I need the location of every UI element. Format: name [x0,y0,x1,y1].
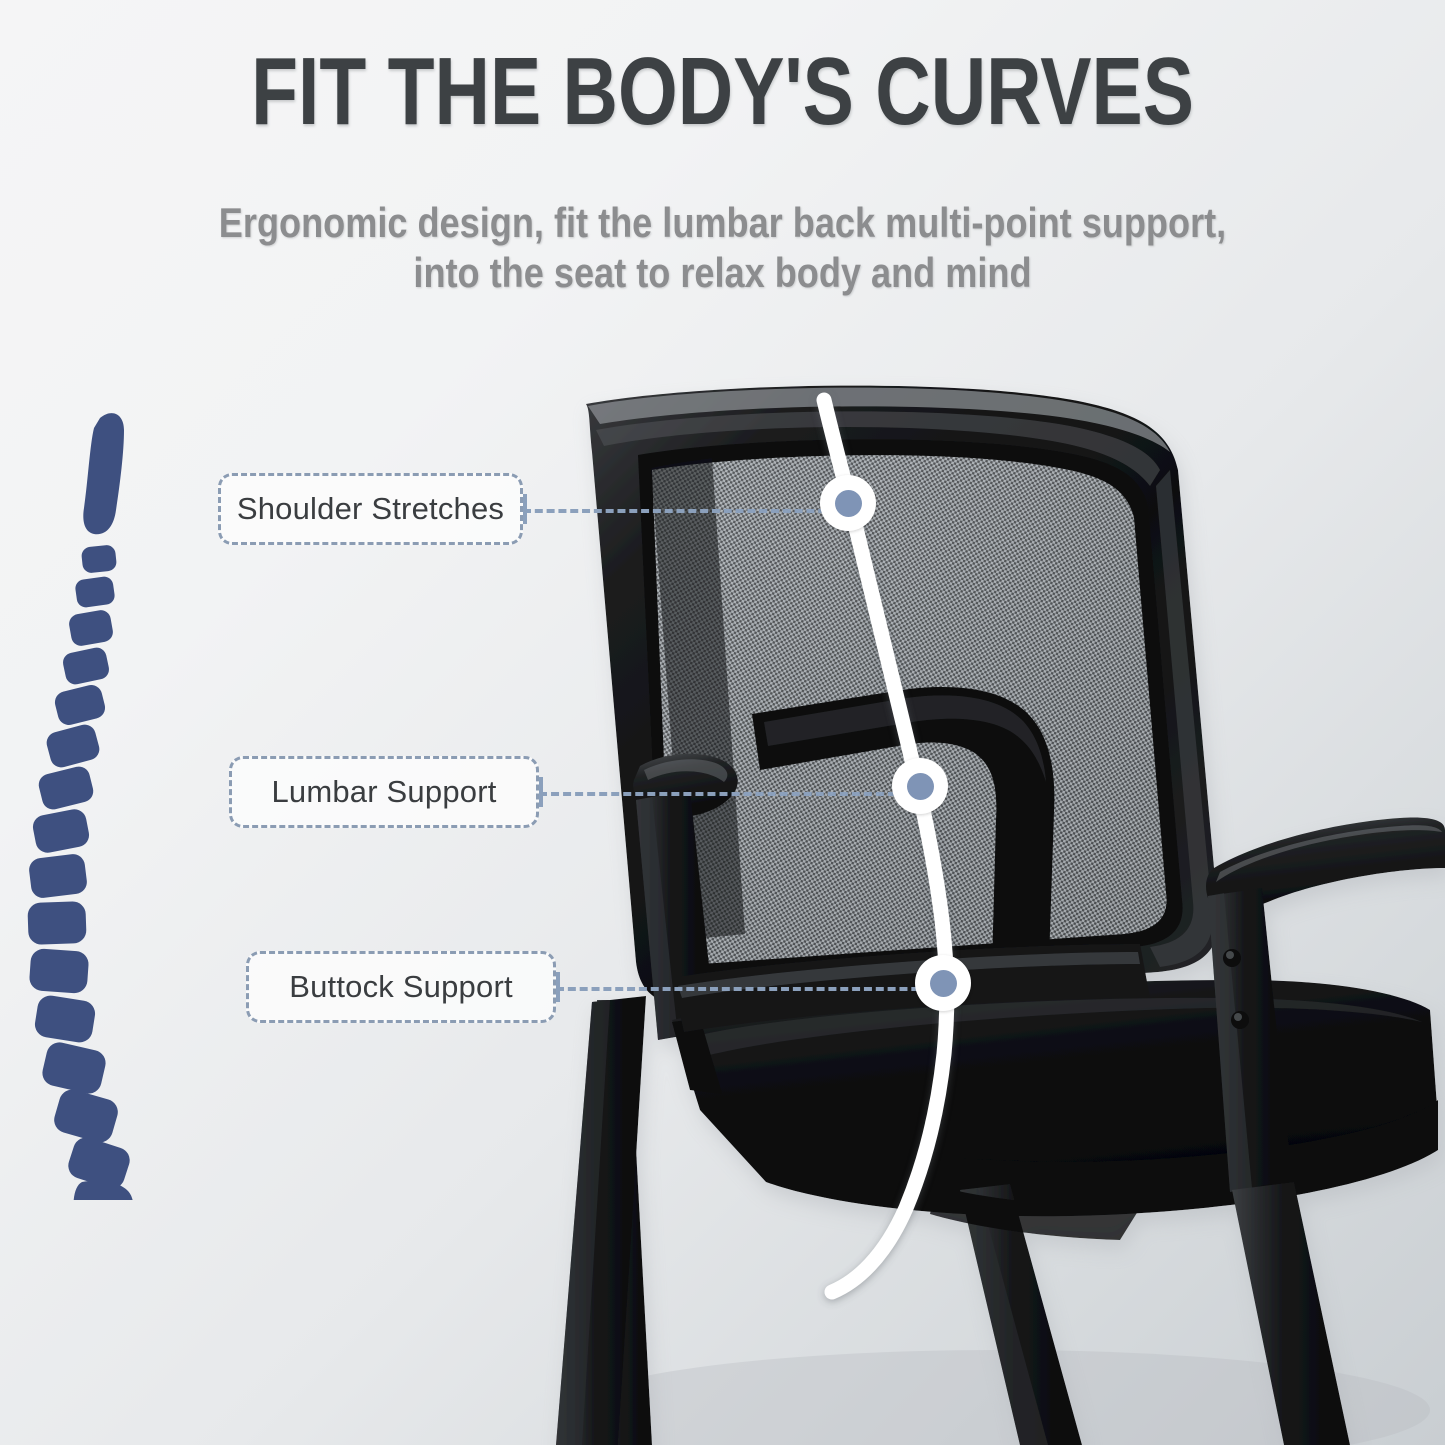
callout-label-text: Buttock Support [289,969,513,1005]
subtitle-line-2: into the seat to relax body and mind [101,248,1344,298]
page-title: FIT THE BODY'S CURVES [145,44,1301,140]
connector-line-shoulder [523,509,838,513]
marker-dot-buttock [915,955,971,1011]
connector-line-buttock [556,987,943,991]
marker-inner-dot [930,970,957,997]
subtitle-line-1: Ergonomic design, fit the lumbar back mu… [219,199,1226,246]
callout-buttock-support: Buttock Support [246,951,556,1023]
callout-lumbar-support: Lumbar Support [229,756,539,828]
marker-dot-lumbar [892,758,948,814]
callout-label-text: Shoulder Stretches [237,491,504,527]
page-subtitle: Ergonomic design, fit the lumbar back mu… [101,198,1344,298]
callout-label-text: Lumbar Support [271,774,496,810]
marker-inner-dot [835,490,862,517]
spine-illustration [20,400,220,1200]
marker-inner-dot [907,773,934,800]
callout-shoulder-stretches: Shoulder Stretches [218,473,523,545]
marker-dot-shoulder [820,475,876,531]
connector-line-lumbar [539,792,920,796]
infographic-page: Shoulder Stretches Lumbar Support Buttoc… [0,0,1445,1445]
